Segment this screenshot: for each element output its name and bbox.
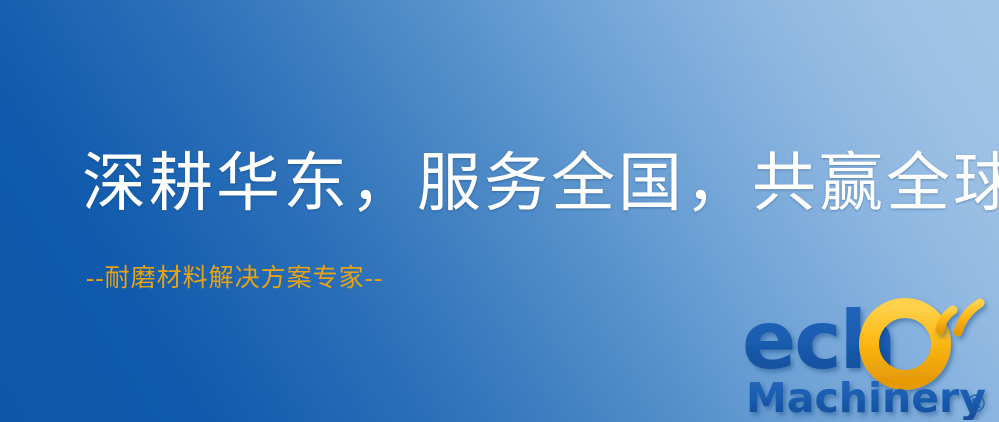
logo-subbrand-machinery: Machinery ® [746,374,988,420]
registered-trademark-icon: ® [964,390,988,418]
promo-banner: 深耕华东，服务全国，共赢全球 --耐磨材料解决方案专家-- [0,0,999,422]
logo-subbrand-text: Machinery [746,374,986,420]
echo-machinery-logo[interactable]: ech Machinery ® [742,296,999,420]
banner-headline: 深耕华东，服务全国，共赢全球 [82,152,999,216]
banner-subtitle: --耐磨材料解决方案专家-- [86,266,383,291]
